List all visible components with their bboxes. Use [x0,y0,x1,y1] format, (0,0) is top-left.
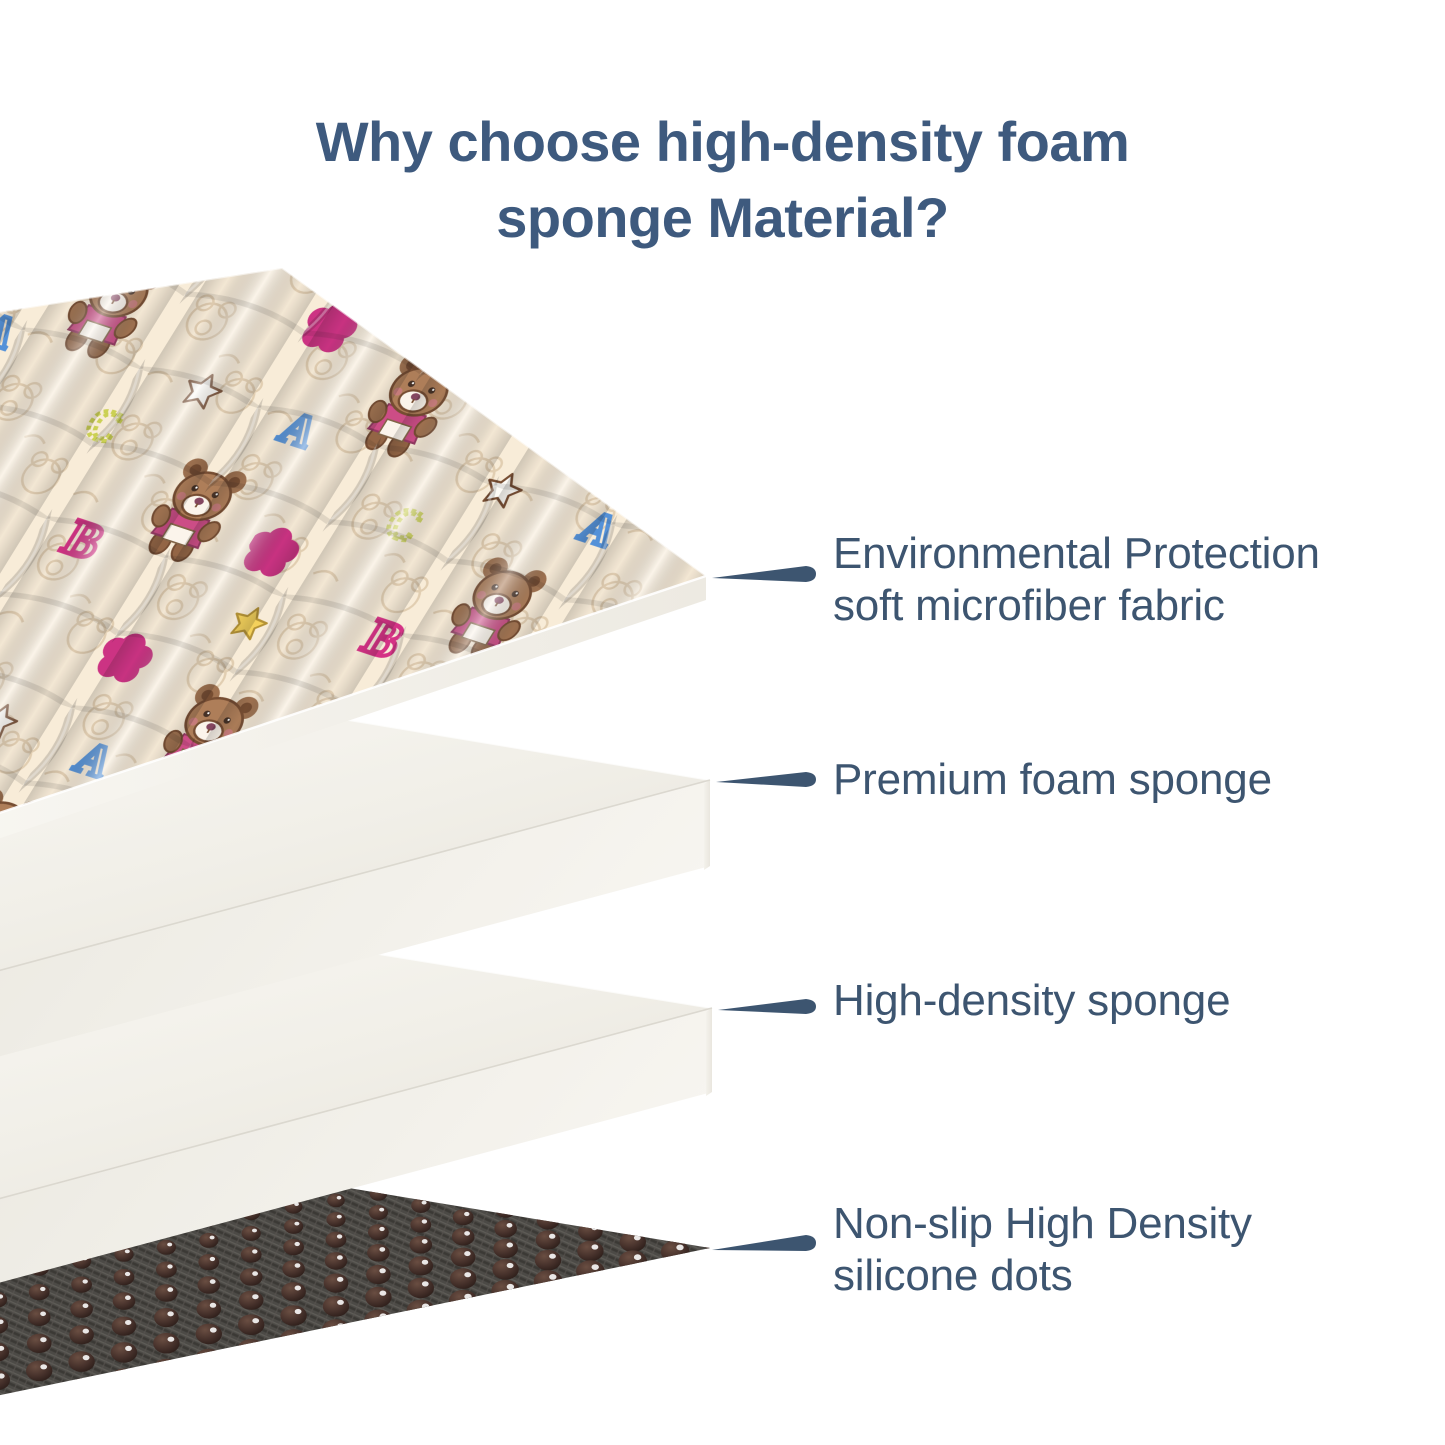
silicone-dot [240,1268,263,1286]
silicone-dot [366,1265,391,1284]
silicone-dot [751,1129,769,1143]
pointer-line-fabric [712,566,816,582]
silicone-dot [68,1351,94,1372]
silicone-dot [619,1250,648,1272]
silicone-dot [538,1194,559,1210]
silicone-dot [494,1220,517,1238]
callout-label-fabric: Environmental Protection soft microfiber… [833,528,1320,632]
silicone-dot-highlight [761,1191,767,1196]
silicone-dot-highlight [422,1219,427,1223]
silicone-dot [326,1232,347,1248]
silicone-dot [325,1252,348,1270]
silicone-dot-highlight [210,1327,217,1332]
silicone-dot [0,1398,11,1420]
silicone-dot [196,1324,222,1345]
silicone-dot-highlight [719,1167,724,1171]
pointer-line-premium-foam [716,772,816,787]
silicone-dot-highlight [83,1355,90,1360]
silicone-dot-highlight [252,1318,259,1323]
silicone-dot-highlight [252,1271,258,1276]
silicone-dot [279,1329,308,1351]
silicone-dot [324,1274,349,1293]
silicone-dot-highlight [337,1215,342,1219]
silicone-dot-highlight [379,1268,385,1273]
silicone-dot [661,1241,690,1263]
silicone-dot-highlight [422,1201,427,1205]
silicone-dot-highlight [634,1182,639,1186]
silicone-dot-highlight [761,1131,766,1135]
silicone-dot-highlight [422,1260,428,1265]
silicone-dot [282,1260,305,1278]
silicone-dot-highlight [634,1151,639,1155]
silicone-dot [410,1217,431,1233]
silicone-dot-highlight [252,1249,257,1253]
silicone-dot [583,1126,598,1137]
silicone-dot-highlight [337,1300,344,1305]
silicone-dot [750,1157,771,1173]
silicone-dot-highlight [168,1363,175,1369]
silicone-dot-highlight [210,1236,215,1240]
silicone-dot-highlight [125,1372,132,1378]
silicone-dot-highlight [507,1284,514,1290]
silicone-dot [620,1232,646,1253]
silicone-dot [454,1174,472,1188]
silicone-dot-highlight [210,1353,217,1359]
silicone-dot [666,1142,684,1156]
silicone-dot-highlight [125,1272,130,1276]
silicone-dot-highlight [337,1255,343,1260]
silicone-dot [496,1184,515,1199]
silicone-dot [665,1172,686,1188]
silicone-dot-highlight [592,1264,599,1270]
silicone-dot-highlight [167,1243,172,1247]
silicone-dot-highlight [549,1180,554,1184]
silicone-dot-highlight [252,1294,258,1299]
silicone-dot [237,1339,266,1361]
silicone-dot [67,1378,96,1400]
silicone-dot-highlight [718,1152,723,1156]
silicone-dot [29,1284,50,1300]
silicone-dot [238,1314,264,1335]
silicone-dot [750,1142,769,1157]
silicone-dot-highlight [634,1254,641,1260]
silicone-dot-highlight [464,1272,471,1277]
silicone-dot-highlight [464,1194,469,1198]
silicone-dot [199,1233,218,1248]
silicone-dot-highlight [252,1343,259,1349]
silicone-dot [280,1305,306,1326]
silicone-dot-highlight [506,1170,511,1174]
silicone-dot [708,1149,727,1164]
silicone-dot-highlight [506,1187,511,1191]
silicone-dot [497,1168,515,1182]
callout-label-high-density-foam: High-density sponge [833,975,1230,1027]
silicone-dot-highlight [507,1223,513,1228]
silicone-dot-highlight [380,1313,387,1319]
silicone-dot [493,1239,518,1258]
silicone-dot [580,1187,601,1203]
callout-label-silicone: Non-slip High Density silicone dots [833,1198,1252,1302]
silicone-dot-highlight [464,1294,471,1300]
silicone-dot-highlight [549,1148,553,1151]
silicone-dot-highlight [591,1190,596,1194]
silicone-dot-highlight [549,1254,556,1259]
silicone-dot [498,1152,514,1165]
silicone-dot-highlight [634,1235,641,1240]
silicone-dot-highlight [507,1243,513,1248]
silicone-dot-highlight [676,1208,682,1213]
silicone-dot [704,1213,730,1234]
silicone-dot-highlight [295,1286,301,1291]
pointer-line-silicone [712,1235,816,1251]
silicone-dot [492,1259,518,1280]
silicone-dot [662,1222,688,1243]
silicone-dot-highlight [125,1250,130,1254]
silicone-dot-highlight [422,1304,429,1310]
silicone-dot [451,1248,476,1267]
silicone-dot-highlight [295,1263,301,1268]
silicone-dot [748,1187,773,1206]
silicone-dot-highlight [83,1303,89,1308]
silicone-dot-highlight [294,1222,299,1226]
silicone-dot [449,1290,478,1312]
silicone-dot [707,1164,728,1180]
silicone-dot [242,1226,261,1241]
callout-label-premium-foam: Premium foam sponge [833,754,1272,806]
silicone-dot-highlight [676,1130,680,1133]
silicone-dot-highlight [379,1227,384,1231]
silicone-dot [281,1282,306,1301]
silicone-dot-highlight [464,1160,468,1163]
silicone-dot [369,1205,388,1220]
silicone-dot [454,1191,473,1206]
silicone-dot-highlight [337,1196,342,1200]
silicone-dot [364,1310,393,1332]
silicone-dot [195,1349,224,1371]
silicone-dot [407,1300,436,1322]
silicone-dot-highlight [718,1138,723,1142]
silicone-dot [540,1146,556,1159]
silicone-dot [450,1268,476,1289]
silicone-dot-highlight [676,1175,681,1179]
silicone-dot-highlight [591,1225,597,1230]
silicone-dot-highlight [676,1144,681,1148]
silicone-dot-highlight [167,1311,173,1316]
silicone-dot-highlight [591,1207,597,1212]
silicone-dot-highlight [125,1346,132,1351]
silicone-dot-highlight [337,1323,344,1329]
silicone-dot [326,1212,345,1227]
silicone-dot-highlight [40,1364,47,1369]
silicone-dot [155,1284,178,1302]
silicone-dot-highlight [719,1235,726,1241]
silicone-dot [537,1212,560,1230]
silicone-dot-highlight [40,1287,45,1291]
silicone-dot-highlight [125,1320,131,1325]
silicone-dot [578,1222,603,1241]
silicone-dot-highlight [591,1157,596,1161]
silicone-dot [110,1369,139,1391]
silicone-dot-highlight [167,1287,173,1292]
pointer-line-high-density-foam [718,999,816,1014]
silicone-dot-highlight [761,1160,766,1164]
silicone-dot [453,1209,474,1225]
infographic-canvas: Why choose high-density foam sponge Mate… [0,0,1445,1445]
silicone-dot [239,1291,264,1310]
silicone-dot-highlight [591,1173,596,1177]
silicone-dot-highlight [210,1257,215,1261]
silicone-dot [579,1204,602,1222]
silicone-dot-highlight [761,1175,767,1180]
silicone-dot [198,1254,219,1270]
silicone-dot-highlight [167,1264,172,1268]
silicone-dot [25,1388,54,1410]
silicone-dot-highlight [549,1197,554,1201]
silicone-dot-highlight [380,1291,387,1296]
silicone-dot-highlight [592,1244,599,1249]
silicone-dot-highlight [379,1247,385,1252]
silicone-dot [621,1213,646,1232]
silicone-dot-highlight [40,1337,46,1342]
silicone-dot-highlight [676,1226,683,1231]
silicone-dot [410,1236,433,1254]
silicone-dot-highlight [719,1217,726,1222]
silicone-dot-highlight [83,1279,88,1283]
silicone-dot-highlight [210,1279,216,1284]
silicone-dot [157,1240,176,1255]
silicone-dot-highlight [0,1402,5,1408]
silicone-dot [27,1334,52,1353]
silicone-dot-highlight [464,1251,470,1256]
silicone-dot [581,1170,600,1185]
silicone-dot [624,1148,642,1162]
silicone-dot [408,1278,434,1299]
silicone-dot [582,1140,598,1153]
silicone-dot-highlight [549,1274,556,1280]
silicone-dot [576,1260,605,1282]
silicone-dot [411,1198,430,1213]
silicone-dot-highlight [633,1136,637,1139]
silicone-dot [622,1196,645,1214]
silicone-dot [322,1319,351,1341]
silicone-dot [409,1256,434,1275]
silicone-dot [69,1325,94,1344]
silicone-dot [625,1134,641,1147]
silicone-dot [623,1163,642,1178]
silicone-dot [709,1135,727,1149]
silicone-dot-highlight [549,1234,555,1239]
silicone-dot [197,1299,222,1318]
silicone-dot-highlight [507,1263,514,1268]
silicone-dot [241,1247,262,1263]
silicone-dot [666,1156,685,1171]
silicone-dot-highlight [549,1215,555,1220]
silicone-dot [749,1172,772,1190]
silicone-dot-highlight [83,1329,89,1334]
silicone-dot-highlight [761,1208,768,1213]
silicone-dot-highlight [464,1212,469,1216]
silicone-dot-highlight [422,1183,427,1187]
silicone-dot [664,1188,687,1206]
silicone-dot [705,1196,730,1215]
silicone-dot [491,1280,520,1302]
silicone-dot [323,1296,349,1317]
silicone-dot [746,1221,775,1243]
silicone-dot-highlight [295,1309,302,1314]
silicone-dot [577,1241,603,1262]
silicone-dot-highlight [549,1164,554,1168]
silicone-dot [367,1244,390,1262]
silicone-dot-highlight [634,1217,640,1222]
silicone-dot [71,1277,92,1293]
silicone-dot-highlight [719,1183,725,1188]
silicone-dot [536,1230,561,1249]
silicone-dot [153,1333,179,1354]
silicone-dot-highlight [719,1199,725,1204]
silicone-dot [535,1250,561,1271]
silicone-dot-highlight [591,1142,595,1145]
silicone-dot [283,1239,304,1255]
silicone-dot-highlight [761,1145,766,1149]
silicone-dot [327,1194,345,1208]
silicone-dot [582,1155,600,1169]
silicone-dot-highlight [295,1333,302,1339]
silicone-dot [370,1187,388,1201]
silicone-dot [365,1287,391,1308]
silicone-dot-highlight [634,1166,639,1170]
silicone-dot-highlight [125,1295,131,1300]
silicone-dot-highlight [676,1245,683,1251]
silicone-dot-highlight [761,1225,768,1231]
silicone-dot [284,1219,303,1234]
silicone-dot [198,1276,221,1294]
silicone-dot-highlight [40,1392,47,1398]
silicone-dot [539,1161,557,1175]
silicone-dot [112,1317,137,1336]
silicone-dot [667,1128,683,1141]
silicone-dot [706,1180,729,1198]
silicone-dot-highlight [676,1159,681,1163]
silicone-dot-highlight [252,1229,257,1233]
silicone-dot [152,1359,181,1381]
silicone-dot [538,1177,557,1192]
silicone-dot [663,1205,688,1224]
silicone-dot [495,1202,516,1218]
silicone-dot-highlight [464,1177,469,1181]
silicone-dot-highlight [379,1189,384,1193]
silicone-dot [534,1270,563,1292]
silicone-dot-highlight [506,1154,510,1157]
silicone-dot-highlight [168,1337,175,1342]
silicone-dot [114,1269,135,1285]
silicone-dot [111,1342,137,1363]
silicone-dot [28,1308,51,1326]
silicone-dot [747,1204,773,1225]
silicone-dot [113,1292,136,1310]
silicone-dot-highlight [676,1191,682,1196]
silicone-dot-highlight [422,1281,429,1286]
silicone-dot-highlight [83,1382,90,1388]
callout-pointers [712,566,816,1251]
silicone-dot [412,1181,430,1195]
silicone-dot-highlight [337,1234,342,1238]
silicone-dot-highlight [591,1128,595,1131]
silicone-dot [70,1300,93,1318]
silicone-dot [26,1361,52,1382]
silicone-dot [154,1308,179,1327]
silicone-dot [452,1228,475,1246]
silicone-dot-highlight [422,1239,428,1244]
silicone-dot-highlight [210,1303,216,1308]
silicone-dot [368,1224,389,1240]
silicone-dot [622,1179,643,1195]
silicone-dot-highlight [464,1231,470,1236]
silicone-dot-highlight [40,1312,46,1317]
silicone-dot-highlight [634,1199,640,1204]
silicone-dot [156,1262,177,1278]
silicone-dot-highlight [379,1208,384,1212]
silicone-dot-highlight [295,1242,300,1246]
silicone-dot-highlight [337,1277,343,1282]
silicone-dot-highlight [507,1205,512,1209]
